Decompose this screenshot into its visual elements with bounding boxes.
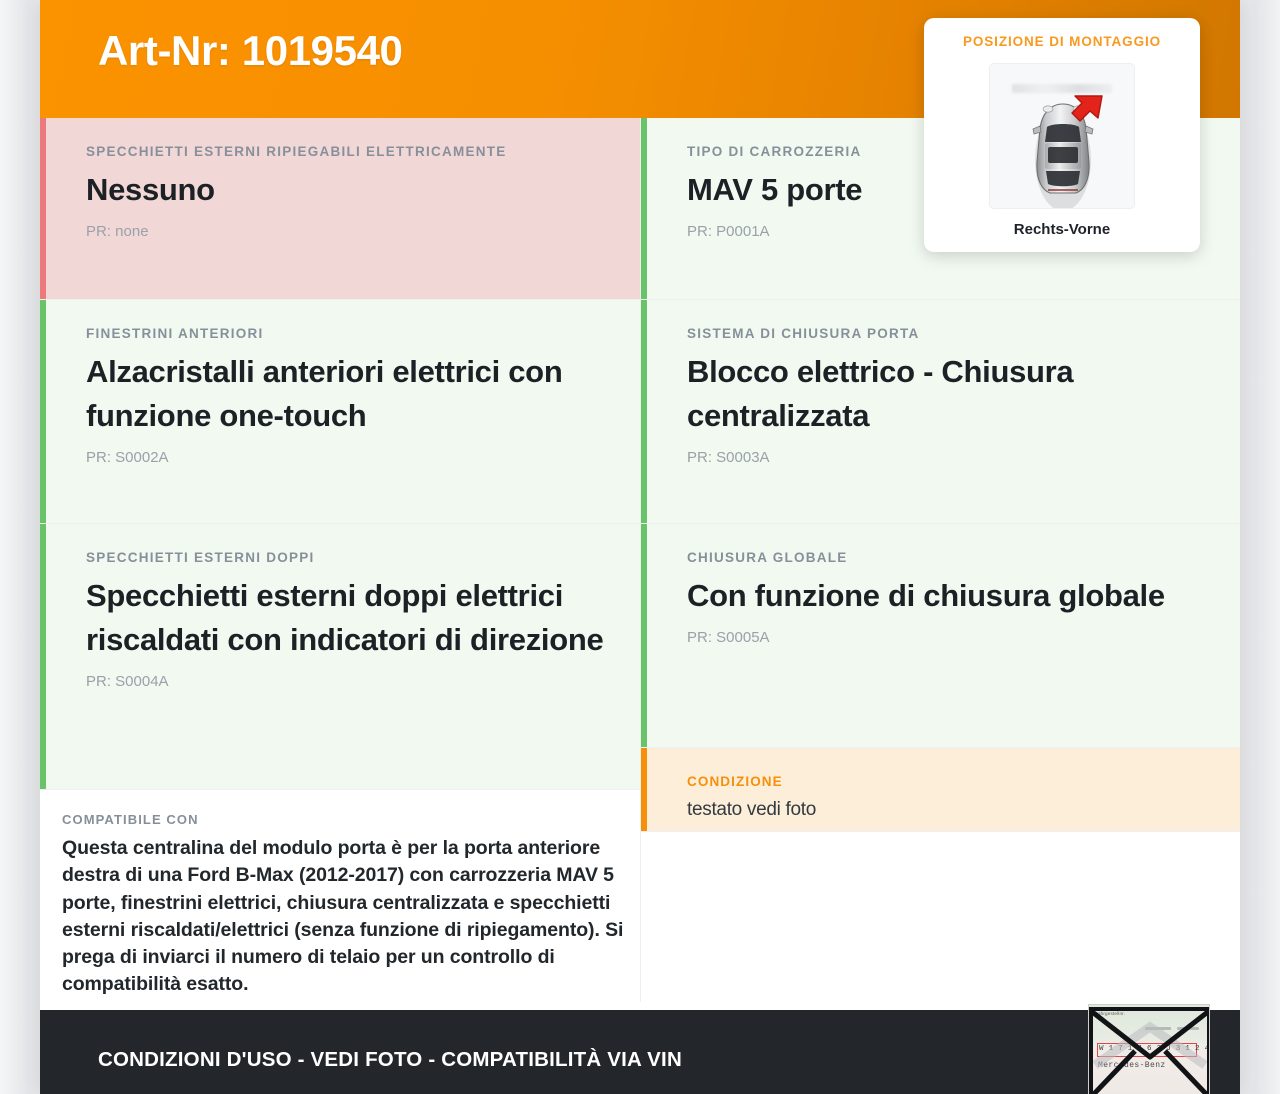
product-spec-sheet: Art-Nr: 1019540 POSIZIONE DI MONTAGGIO [40, 0, 1240, 1094]
spec-card: FINESTRINI ANTERIORI Alzacristalli anter… [40, 300, 640, 524]
spec-card: SPECCHIETTI ESTERNI DOPPI Specchietti es… [40, 524, 640, 790]
condition-value: testato vedi foto [687, 797, 1207, 824]
compatibility-text: Questa centralina del modulo porta è per… [62, 835, 624, 999]
spec-pr-code: PR: S0003A [687, 449, 1240, 466]
spec-label: CHIUSURA GLOBALE [687, 550, 1240, 565]
footer-bar: CONDIZIONI D'USO - VEDI FOTO - COMPATIBI… [40, 1010, 1240, 1094]
spec-value: Specchietti esterni doppi elettrici risc… [86, 574, 606, 662]
spec-column-left: SPECCHIETTI ESTERNI RIPIEGABILI ELETTRIC… [40, 118, 640, 1002]
spec-value: Con funzione di chiusura globale [687, 574, 1207, 618]
spec-label: SPECCHIETTI ESTERNI DOPPI [86, 550, 640, 565]
spec-label: SISTEMA DI CHIUSURA PORTA [687, 326, 1240, 341]
spec-card: SPECCHIETTI ESTERNI RIPIEGABILI ELETTRIC… [40, 118, 640, 300]
spec-pr-code: PR: S0002A [86, 449, 640, 466]
compatibility-label: COMPATIBILE CON [62, 812, 640, 827]
mounting-position-image [989, 63, 1135, 209]
compatibility-card: COMPATIBILE CON Questa centralina del mo… [40, 790, 640, 1002]
spec-value: Nessuno [86, 168, 606, 212]
spec-card: CHIUSURA GLOBALE Con funzione di chiusur… [641, 524, 1240, 748]
spec-value: Blocco elettrico - Chiusura centralizzat… [687, 350, 1207, 438]
vin-document-stamp: Fahrgestellnr. W 1 7 1 4 6 3 J 3 1 2 4 8… [1088, 1004, 1210, 1094]
spec-card: SISTEMA DI CHIUSURA PORTA Blocco elettri… [641, 300, 1240, 524]
empty-cell [641, 832, 1240, 1002]
spec-label: SPECCHIETTI ESTERNI RIPIEGABILI ELETTRIC… [86, 144, 640, 159]
envelope-icon [1089, 1005, 1210, 1094]
spec-pr-code: PR: none [86, 223, 640, 240]
page-title: Art-Nr: 1019540 [98, 27, 403, 75]
condition-label: CONDIZIONE [687, 774, 1240, 789]
spec-label: FINESTRINI ANTERIORI [86, 326, 640, 341]
condition-card: CONDIZIONE testato vedi foto [641, 748, 1240, 832]
mounting-position-label: Rechts-Vorne [938, 221, 1186, 238]
mounting-position-card: POSIZIONE DI MONTAGGIO [924, 18, 1200, 252]
mounting-position-title: POSIZIONE DI MONTAGGIO [938, 34, 1186, 49]
spec-value: Alzacristalli anteriori elettrici con fu… [86, 350, 606, 438]
spec-pr-code: PR: S0004A [86, 673, 640, 690]
red-arrow-icon [1072, 96, 1102, 121]
car-top-view-icon [990, 64, 1135, 209]
footer-text: CONDIZIONI D'USO - VEDI FOTO - COMPATIBI… [98, 1048, 682, 1072]
spec-pr-code: PR: S0005A [687, 629, 1240, 646]
